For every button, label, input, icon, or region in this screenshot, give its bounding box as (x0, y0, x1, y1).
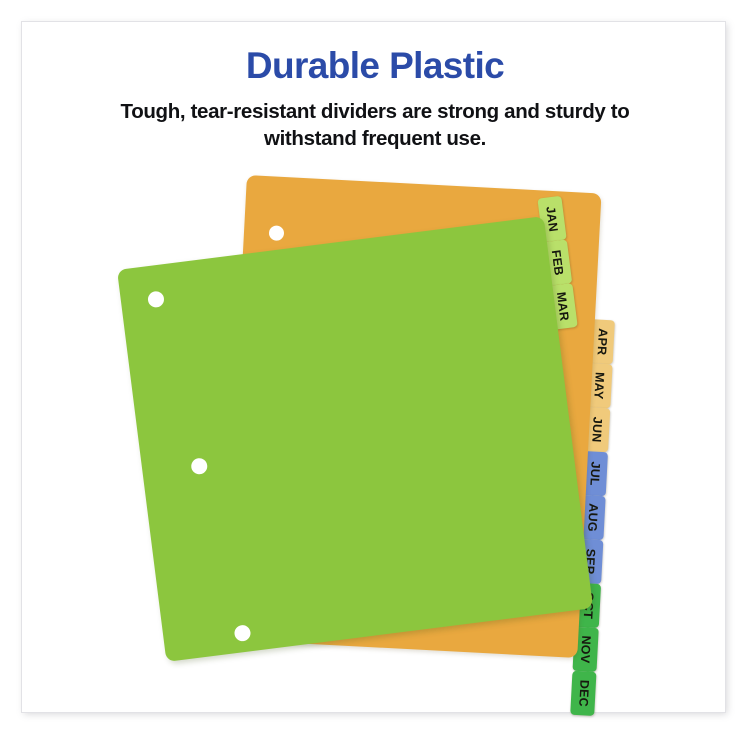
tab-may-label: MAY (592, 372, 607, 400)
punch-hole-green-middle (190, 457, 208, 475)
punch-hole-green-top (147, 290, 165, 308)
tab-jan-label: JAN (544, 205, 561, 232)
tab-dec[interactable]: DEC (570, 671, 596, 716)
page-title: Durable Plastic (0, 46, 750, 85)
tab-apr-label: APR (594, 328, 609, 356)
punch-hole-green-bottom (234, 624, 252, 642)
tab-aug-label: AUG (585, 503, 600, 532)
marketing-text-block: Durable Plastic Tough, tear-resistant di… (0, 46, 750, 153)
tab-dec-label: DEC (576, 679, 591, 707)
tab-mar-label: MAR (554, 291, 572, 322)
punch-hole-orange-top (269, 225, 285, 241)
tab-nov-label: NOV (578, 635, 593, 663)
tab-feb-label: FEB (549, 249, 566, 276)
green-divider-sheet (117, 216, 593, 662)
product-image-canvas: Durable Plastic Tough, tear-resistant di… (0, 0, 750, 750)
page-subtitle: Tough, tear-resistant dividers are stron… (75, 99, 675, 152)
tab-jun-label: JUN (589, 417, 604, 443)
tab-jul-label: JUL (587, 461, 602, 486)
